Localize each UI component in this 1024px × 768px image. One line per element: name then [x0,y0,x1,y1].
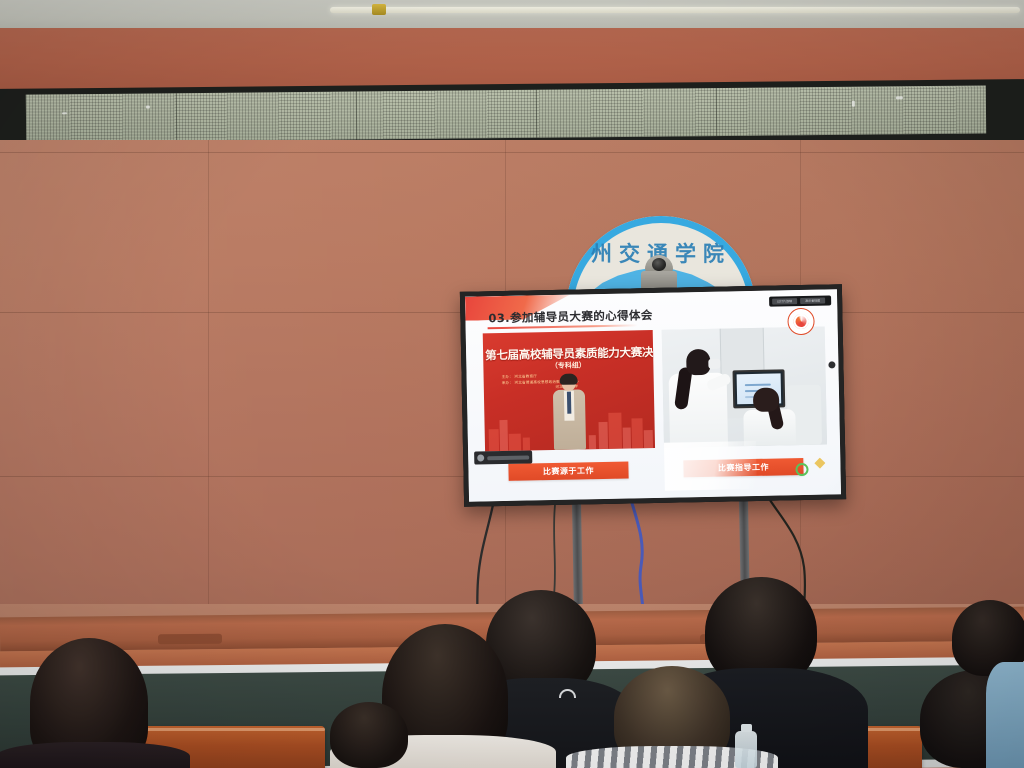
led-panel-surface [26,85,986,142]
ceiling [0,0,1024,30]
slide-photo-lab [662,327,827,448]
camera-lens-icon [652,258,666,271]
wall-mounted-display[interactable]: 03.参加辅导员大赛的心得体会 [460,284,846,507]
slide-photo-person-seated [741,387,796,446]
slide-decoration-leaf-icon [814,458,825,469]
light-end-cap [372,4,386,15]
tv-screen[interactable]: 03.参加辅导员大赛的心得体会 [465,289,841,501]
toolbar-chip-slideshow[interactable]: 幻灯片放映 [772,298,797,305]
water-bottle [735,731,757,768]
control-bar-track[interactable] [487,455,529,460]
caption-right: 比赛指导工作 [683,458,803,477]
control-bar-dot-icon[interactable] [477,454,484,461]
wood-trim-notch-left [158,634,222,645]
slide-photo-person-standing [668,349,728,448]
fluorescent-light-fixture [330,7,1020,13]
bottle-cap [741,724,752,732]
lecture-hall-photo: 州交通学院 03.参加辅导员大赛的心得体会 [0,0,1024,768]
north-face-logo-icon [554,689,580,709]
slide-photo-competition: 第七届高校辅导员素质能力大赛决赛 （专科组） 主办： 河北省教育厅 承办： 河北… [483,330,655,451]
slide-decoration-circle [795,463,808,476]
slide-speaker-figure [552,375,587,450]
audience-shoulders-far-right [986,662,1024,768]
floating-control-bar[interactable] [474,450,532,464]
presentation-toolbar-overlay[interactable]: 幻灯片放映 演示者视图 [769,295,831,306]
caption-left: 比赛源于工作 [508,462,628,481]
toolbar-chip-presenter-view[interactable]: 演示者视图 [800,298,825,305]
presentation-slide: 03.参加辅导员大赛的心得体会 [465,289,841,501]
slide-title: 03.参加辅导员大赛的心得体会 [488,307,653,326]
audience-member-edge-left [330,702,408,768]
screen-edge-sensor-icon [828,361,835,368]
audience-shoulders-front-far-left [0,742,190,768]
banner-subheadline: （专科组） [485,359,651,372]
